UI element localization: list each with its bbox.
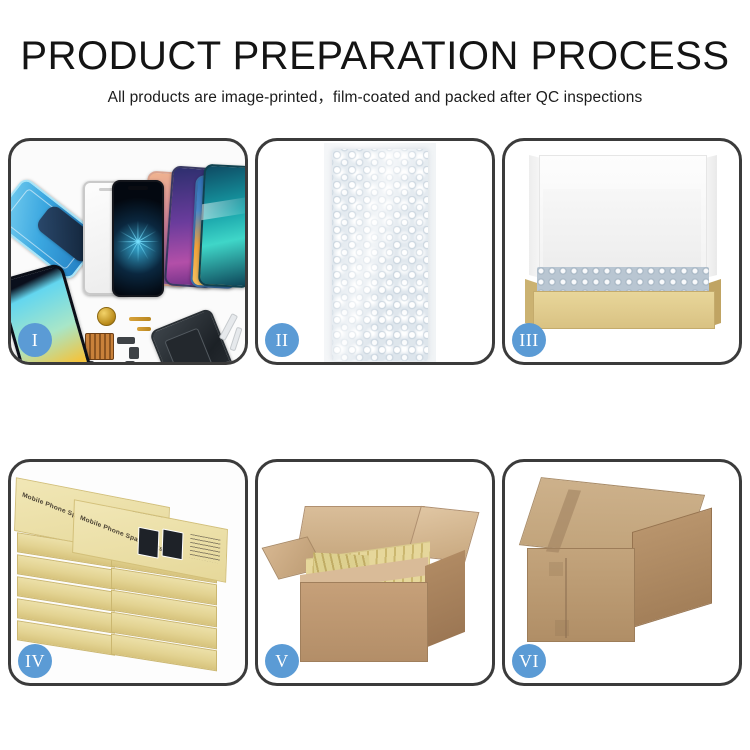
process-steps-grid: I II (8, 138, 742, 686)
sealed-carton-front-face (527, 548, 635, 642)
step-number-badge-6: VI (512, 644, 546, 678)
sealed-carton-flap-notch-bottom (555, 620, 569, 636)
black-phone-display (112, 180, 164, 297)
plastic-sheen-highlight (332, 149, 428, 361)
vibration-motor-part (125, 361, 135, 362)
process-step-5: V (255, 459, 495, 686)
process-step-3: III (502, 138, 742, 365)
step-number-badge-5: V (265, 644, 299, 678)
page-subtitle: All products are image-printed，film-coat… (0, 79, 750, 108)
product-preparation-process-page: PRODUCT PREPARATION PROCESS All products… (0, 0, 750, 750)
step-number-badge-2: II (265, 323, 299, 357)
process-step-4: Mobile Phone Spare Parts Mobile Phone Sp… (8, 459, 248, 686)
connector-part-4 (129, 347, 139, 359)
mesh-grille-part (85, 333, 114, 360)
header: PRODUCT PREPARATION PROCESS All products… (0, 0, 750, 108)
gradient-phone-teal (198, 164, 245, 289)
mailer-interior (543, 189, 701, 271)
retail-box-spec-lines-2 (190, 534, 221, 564)
step-number-badge-4: IV (18, 644, 52, 678)
bubble-wrap-pouch (332, 149, 428, 361)
step-number-badge-3: III (512, 323, 546, 357)
step-number-badge-1: I (18, 323, 52, 357)
retail-box-thumb-2a (137, 527, 159, 559)
sealed-carton-flap-notch-top (549, 562, 563, 576)
flex-cable-part-2 (137, 327, 151, 331)
carton-right-face (425, 550, 465, 648)
flex-cable-part-1 (129, 317, 151, 321)
retail-box-thumb-2b (162, 528, 184, 560)
tweezers-tool (229, 327, 242, 352)
process-step-1: I (8, 138, 248, 365)
speaker-part (97, 307, 116, 326)
mailer-front-panel (533, 291, 715, 329)
carton-front-face (300, 582, 428, 662)
process-step-6: VI (502, 459, 742, 686)
page-title: PRODUCT PREPARATION PROCESS (0, 0, 750, 79)
process-step-2: II (255, 138, 495, 365)
connector-part-3 (117, 337, 135, 344)
